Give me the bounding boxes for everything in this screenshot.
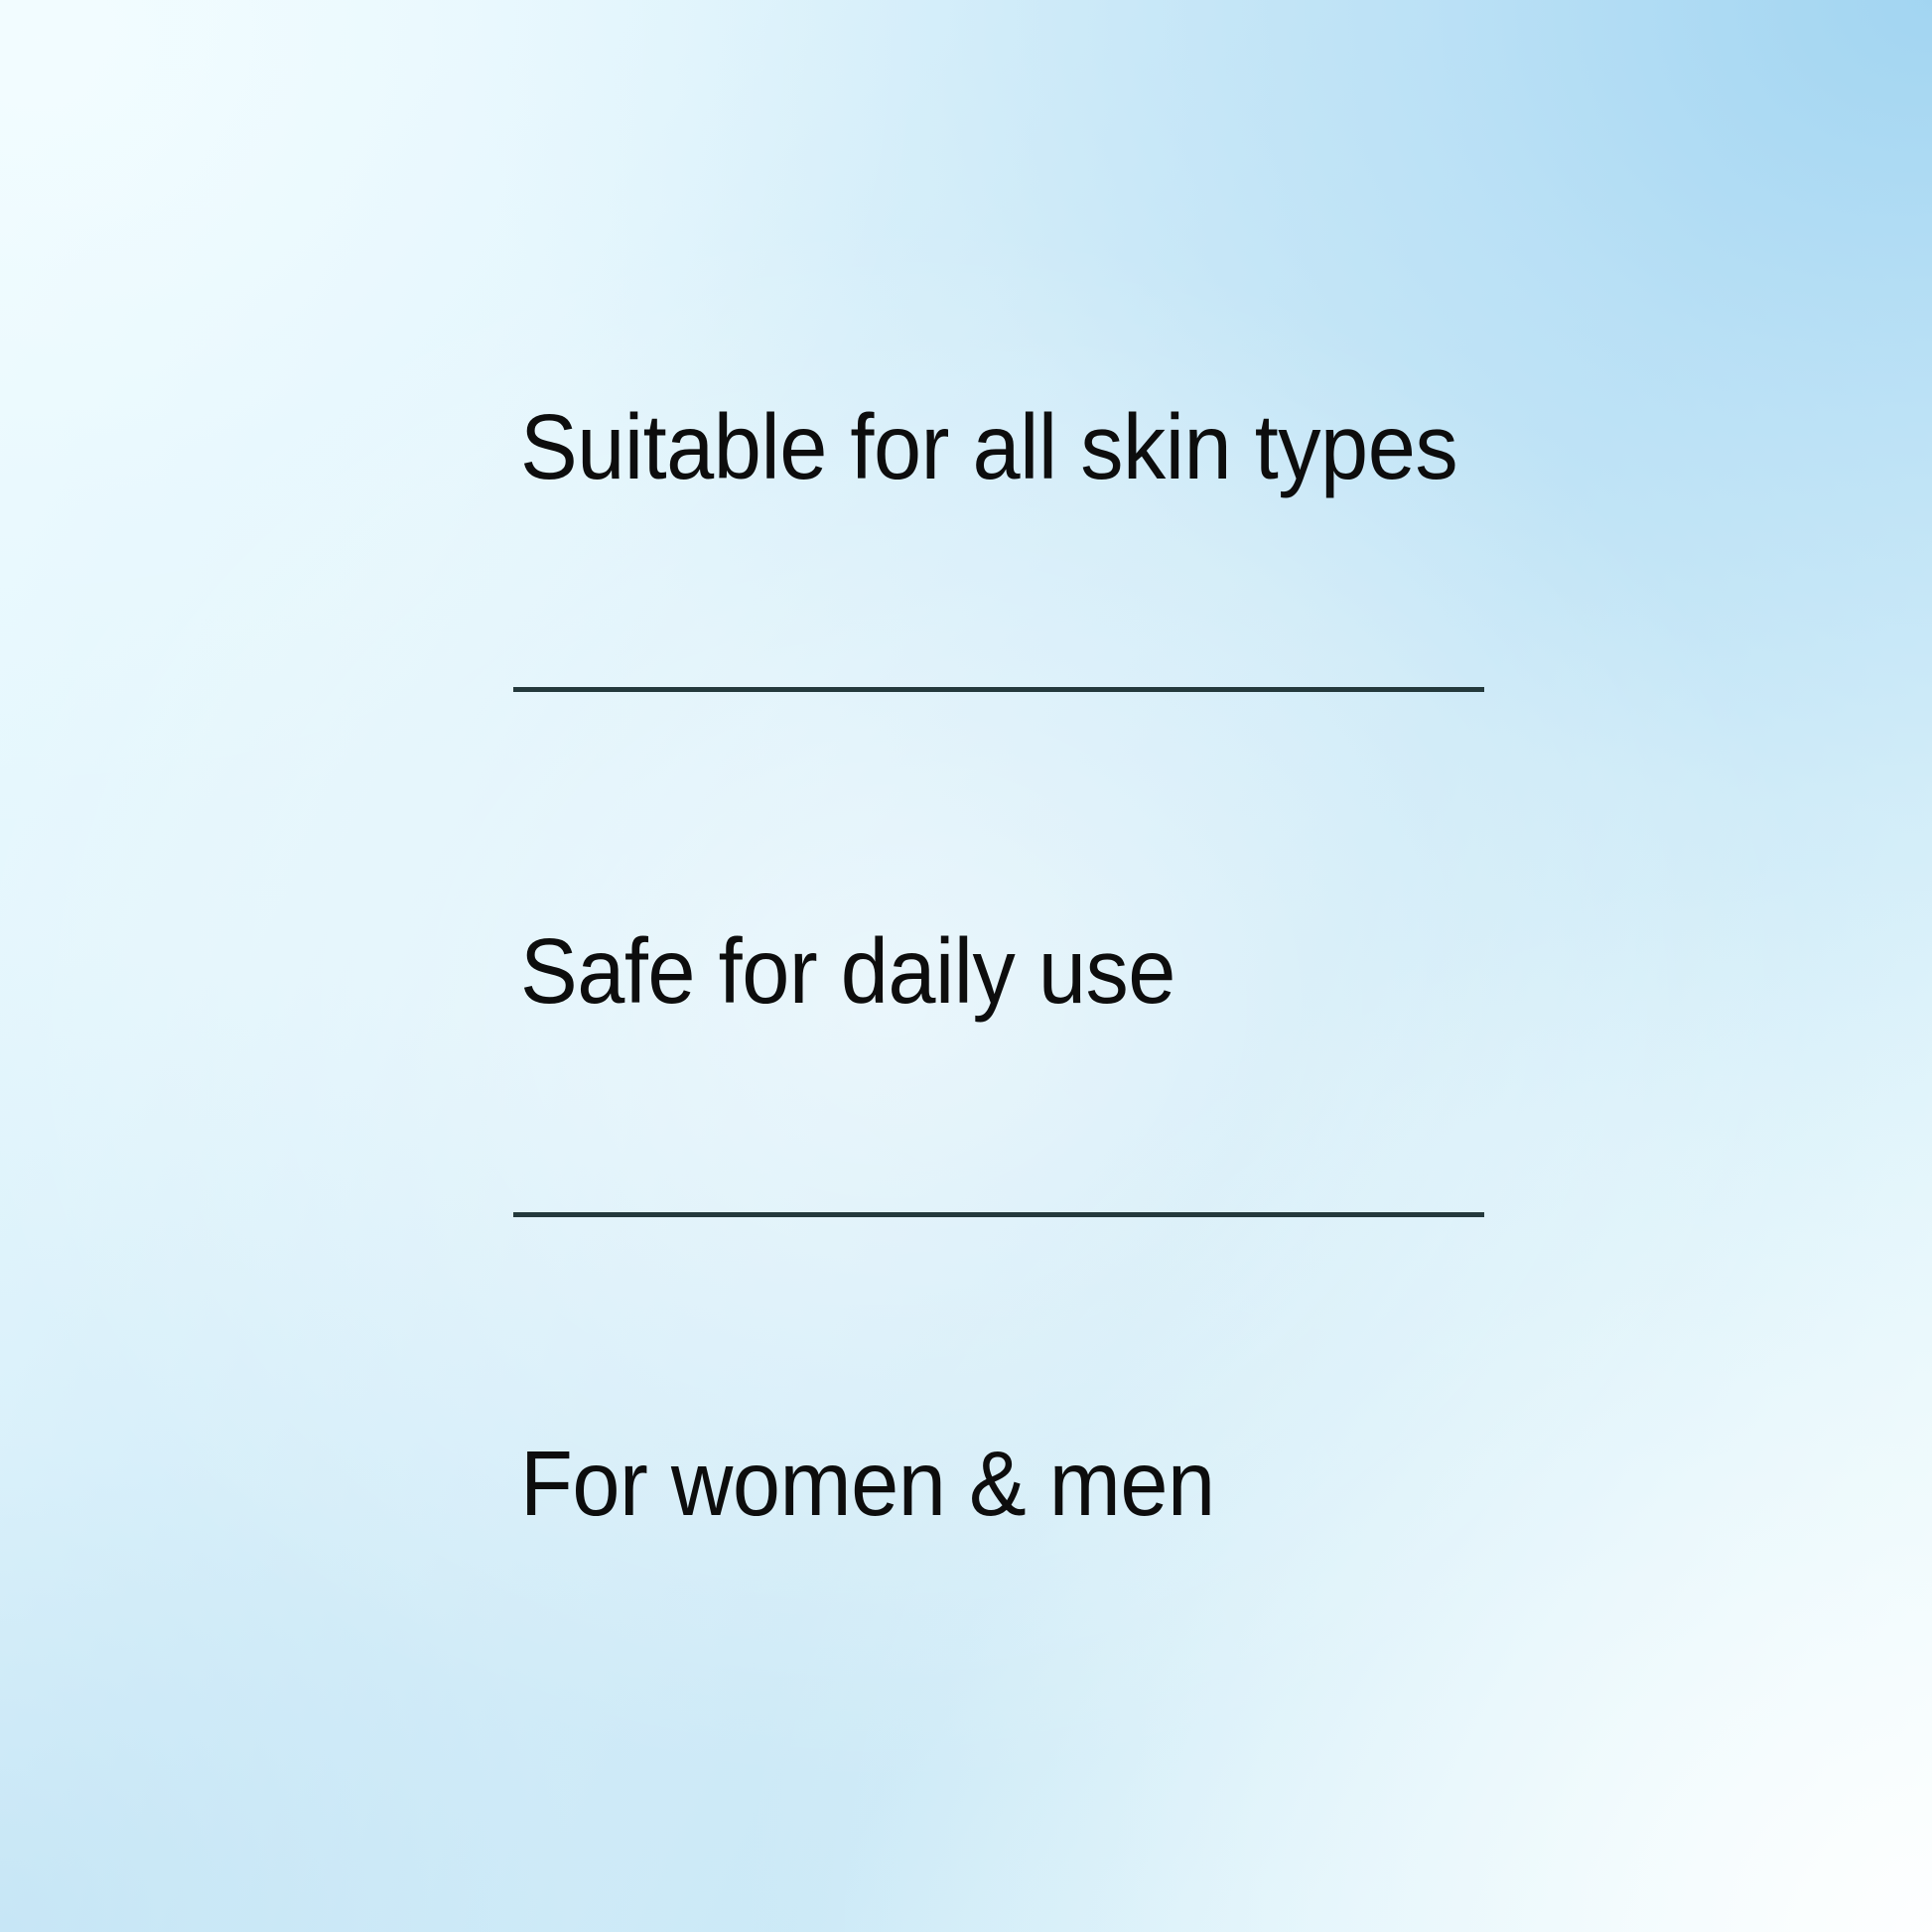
- product-feature-poster: Suitable for all skin types Safe for dai…: [0, 0, 1932, 1932]
- feature-item-skin-types: Suitable for all skin types: [520, 401, 1457, 493]
- feature-list: Suitable for all skin types Safe for dai…: [0, 0, 1932, 1932]
- feature-item-daily-use: Safe for daily use: [520, 925, 1175, 1018]
- feature-item-women-and-men: For women & men: [520, 1438, 1215, 1530]
- feature-divider-2: [513, 1212, 1484, 1217]
- feature-divider-1: [513, 687, 1484, 692]
